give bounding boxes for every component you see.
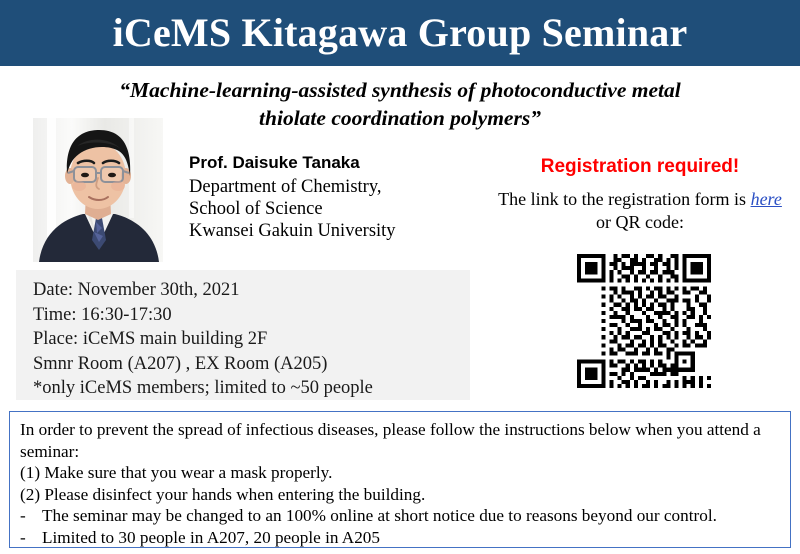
speaker-affiliation-line: School of Science <box>189 198 479 220</box>
bullet-marker: - <box>20 505 42 527</box>
notice-intro: In order to prevent the spread of infect… <box>20 419 780 462</box>
notice-bullet-1: - The seminar may be changed to an 100% … <box>20 505 780 527</box>
notice-bullet-1-text: The seminar may be changed to an 100% on… <box>42 505 717 527</box>
detail-date: Date: November 30th, 2021 <box>33 278 470 303</box>
talk-title-line-1: “Machine-learning-assisted synthesis of … <box>40 76 760 104</box>
covid-notice-box: In order to prevent the spread of infect… <box>9 411 791 548</box>
speaker-affiliation-line: Department of Chemistry, <box>189 176 479 198</box>
detail-restriction: *only iCeMS members; limited to ~50 peop… <box>33 376 470 401</box>
notice-bullet-2: - Limited to 30 people in A207, 20 peopl… <box>20 527 780 549</box>
registration-block: Registration required! The link to the r… <box>490 155 790 234</box>
speaker-affiliation-line: Kwansei Gakuin University <box>189 220 479 242</box>
speaker-name: Prof. Daisuke Tanaka <box>189 152 479 174</box>
seminar-details-box: Date: November 30th, 2021 Time: 16:30-17… <box>16 270 470 400</box>
registration-instructions: The link to the registration form is her… <box>490 188 790 234</box>
registration-text-after-link: or QR code: <box>596 212 684 232</box>
detail-place: Place: iCeMS main building 2F <box>33 327 470 352</box>
qr-code[interactable] <box>577 254 711 388</box>
speaker-info: Prof. Daisuke Tanaka Department of Chemi… <box>189 152 479 242</box>
page-title: iCeMS Kitagawa Group Seminar <box>113 13 688 53</box>
detail-time: Time: 16:30-17:30 <box>33 303 470 328</box>
speaker-affiliation: Department of Chemistry, School of Scien… <box>189 176 479 242</box>
registration-form-link[interactable]: here <box>751 189 782 209</box>
speaker-photo <box>33 118 163 262</box>
registration-required-heading: Registration required! <box>490 155 790 179</box>
notice-bullet-2-text: Limited to 30 people in A207, 20 people … <box>42 527 380 549</box>
registration-text-before-link: The link to the registration form is <box>498 189 750 209</box>
bullet-marker: - <box>20 527 42 549</box>
detail-rooms: Smnr Room (A207) , EX Room (A205) <box>33 352 470 377</box>
notice-item-2: (2) Please disinfect your hands when ent… <box>20 484 780 506</box>
portrait-image <box>33 118 163 262</box>
header-banner: iCeMS Kitagawa Group Seminar <box>0 0 800 66</box>
qr-code-icon <box>577 254 711 388</box>
notice-item-1: (1) Make sure that you wear a mask prope… <box>20 462 780 484</box>
